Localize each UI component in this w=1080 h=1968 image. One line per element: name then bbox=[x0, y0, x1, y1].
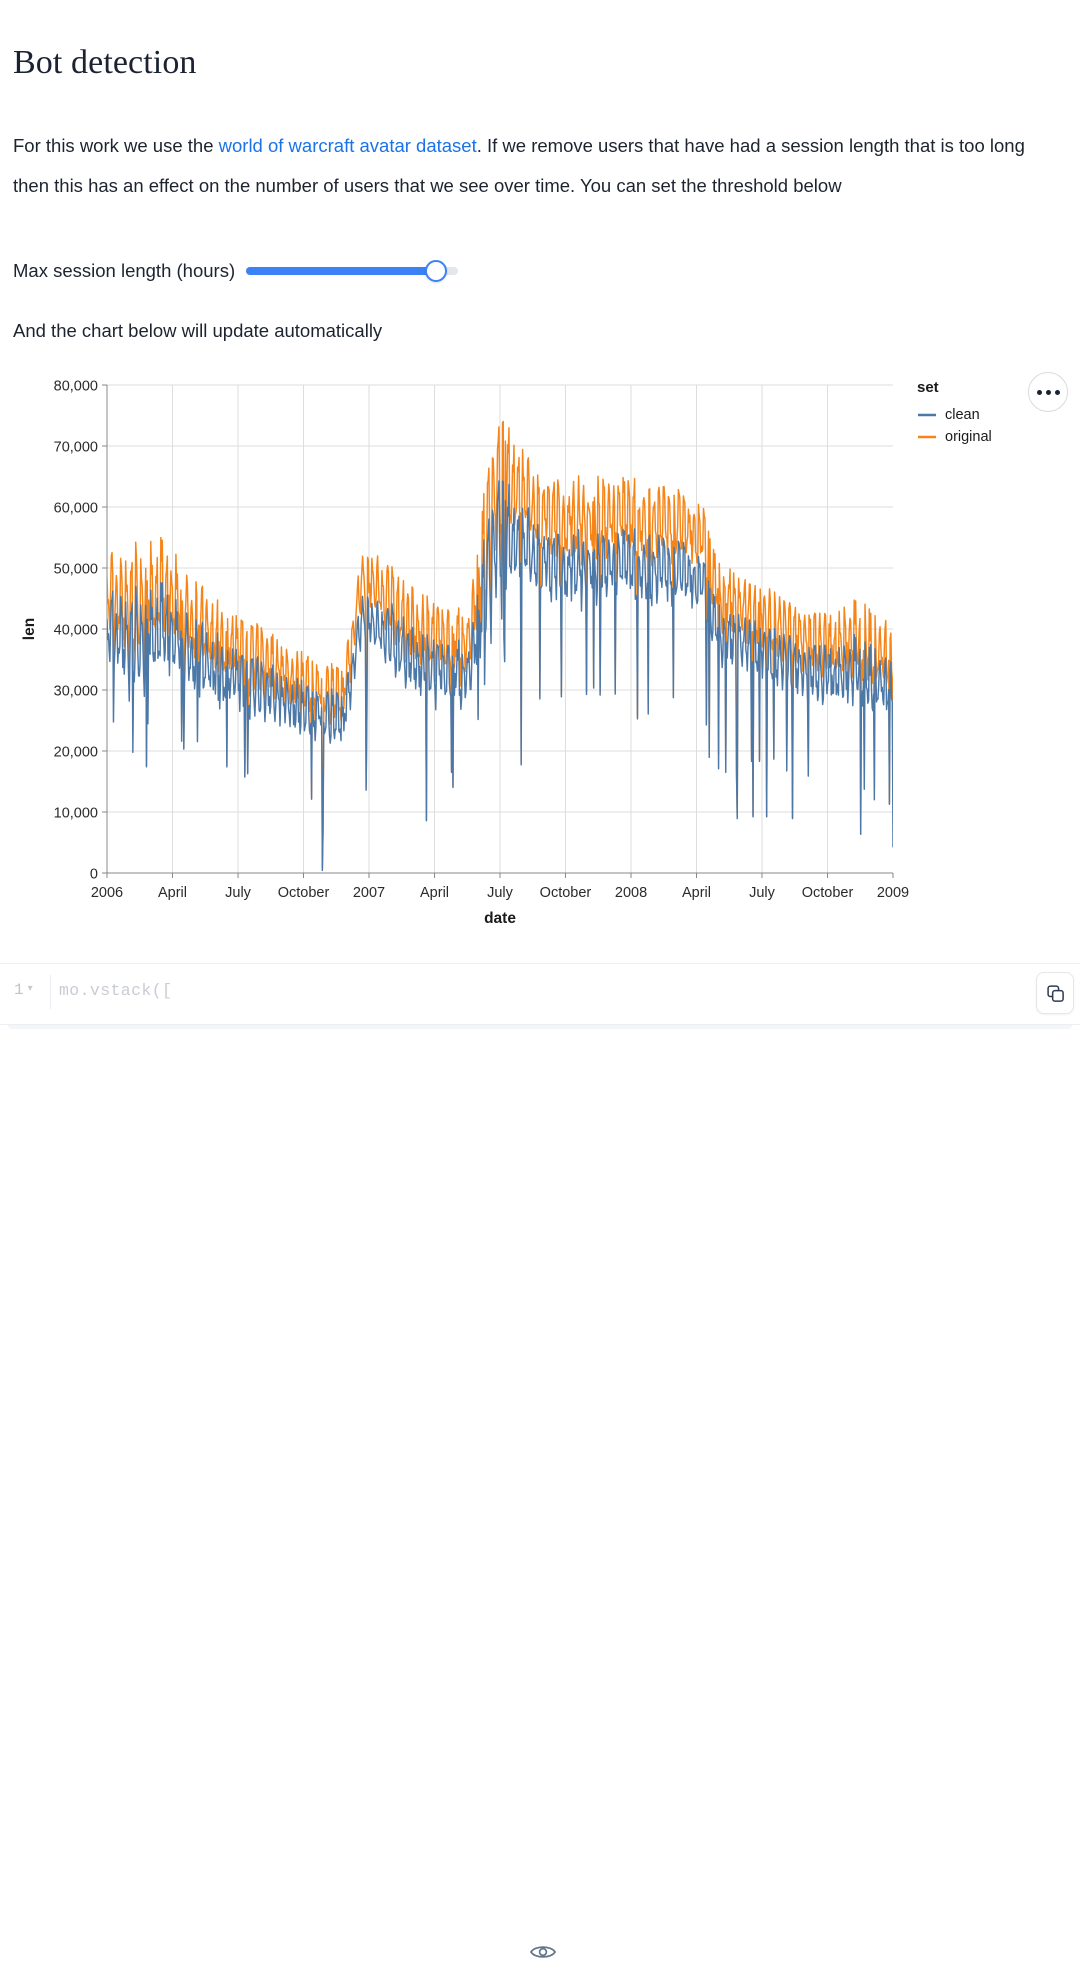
chart-svg: 010,00020,00030,00040,00050,00060,00070,… bbox=[0, 362, 1010, 937]
max-session-length-slider[interactable] bbox=[246, 260, 458, 282]
code-cell-bar[interactable]: 1 ▾ mo.vstack([ bbox=[0, 963, 1080, 1025]
max-session-length-slider-row: Max session length (hours) bbox=[13, 255, 458, 287]
slider-label: Max session length (hours) bbox=[13, 260, 235, 282]
svg-text:2007: 2007 bbox=[353, 885, 385, 901]
svg-text:July: July bbox=[487, 885, 514, 901]
chart-update-note: And the chart below will update automati… bbox=[13, 320, 382, 342]
svg-text:2006: 2006 bbox=[91, 885, 123, 901]
svg-text:set: set bbox=[917, 379, 939, 396]
code-text[interactable]: mo.vstack([ bbox=[59, 981, 172, 1000]
slider-thumb[interactable] bbox=[425, 260, 447, 282]
svg-text:30,000: 30,000 bbox=[54, 684, 98, 700]
svg-text:10,000: 10,000 bbox=[54, 806, 98, 822]
cell-bottom-strip bbox=[0, 1025, 1080, 1054]
slider-fill bbox=[246, 267, 436, 275]
intro-paragraph: For this work we use the world of warcra… bbox=[13, 126, 1059, 207]
ellipsis-icon-dot bbox=[1055, 390, 1060, 395]
copy-code-button[interactable] bbox=[1036, 972, 1074, 1014]
svg-text:50,000: 50,000 bbox=[54, 562, 98, 578]
svg-text:date: date bbox=[484, 910, 516, 927]
intro-text-before-link: For this work we use the bbox=[13, 135, 219, 156]
svg-text:October: October bbox=[802, 885, 854, 901]
svg-text:July: July bbox=[225, 885, 252, 901]
svg-text:20,000: 20,000 bbox=[54, 745, 98, 761]
ellipsis-icon-dot bbox=[1037, 390, 1042, 395]
page-title: Bot detection bbox=[13, 43, 197, 84]
bot-detection-chart[interactable]: 010,00020,00030,00040,00050,00060,00070,… bbox=[0, 362, 1010, 942]
svg-text:April: April bbox=[420, 885, 449, 901]
svg-text:clean: clean bbox=[945, 407, 980, 423]
svg-text:October: October bbox=[540, 885, 592, 901]
svg-text:len: len bbox=[21, 618, 38, 640]
svg-text:original: original bbox=[945, 429, 992, 445]
svg-text:0: 0 bbox=[90, 867, 98, 883]
code-gutter-divider bbox=[50, 975, 51, 1009]
svg-text:70,000: 70,000 bbox=[54, 440, 98, 456]
svg-text:April: April bbox=[158, 885, 187, 901]
svg-text:2009: 2009 bbox=[877, 885, 909, 901]
notebook-output-area: Bot detection For this work we use the w… bbox=[0, 0, 1080, 955]
svg-text:2008: 2008 bbox=[615, 885, 647, 901]
wow-avatar-dataset-link[interactable]: world of warcraft avatar dataset bbox=[219, 135, 477, 156]
ellipsis-icon-dot bbox=[1046, 390, 1051, 395]
svg-text:October: October bbox=[278, 885, 330, 901]
svg-text:April: April bbox=[682, 885, 711, 901]
eye-icon[interactable] bbox=[528, 1941, 558, 1963]
chevron-down-icon[interactable]: ▾ bbox=[28, 985, 33, 995]
svg-text:60,000: 60,000 bbox=[54, 501, 98, 517]
eye-icon-svg bbox=[528, 1941, 558, 1963]
svg-text:40,000: 40,000 bbox=[54, 623, 98, 639]
code-line-number: 1 bbox=[14, 981, 24, 999]
svg-text:80,000: 80,000 bbox=[54, 379, 98, 395]
copy-icon bbox=[1046, 984, 1065, 1003]
svg-text:July: July bbox=[749, 885, 776, 901]
chart-block: 010,00020,00030,00040,00050,00060,00070,… bbox=[0, 362, 1080, 942]
chart-actions-menu-button[interactable] bbox=[1028, 372, 1068, 412]
code-line-gutter[interactable]: 1 ▾ bbox=[14, 981, 33, 999]
